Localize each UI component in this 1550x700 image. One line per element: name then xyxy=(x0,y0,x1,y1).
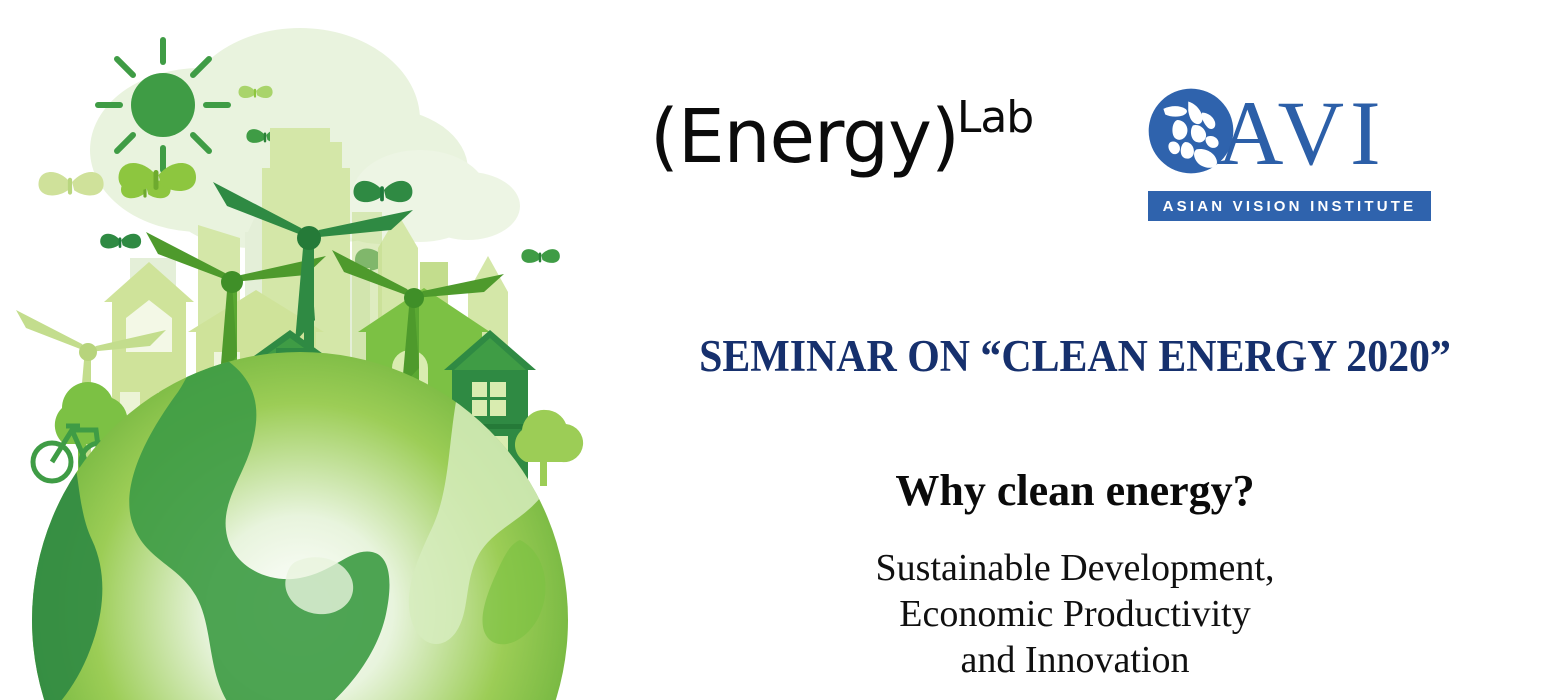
butterfly-icon xyxy=(521,249,559,263)
subtitle-block: Sustainable Development, Economic Produc… xyxy=(600,545,1550,683)
subtitle-line-3: and Innovation xyxy=(600,637,1550,683)
seminar-title: SEMINAR ON “CLEAN ENERGY 2020” xyxy=(633,330,1517,382)
sun-icon xyxy=(98,40,228,170)
logo-row: (Energy)Lab xyxy=(600,78,1550,248)
avi-logo-top: AVI xyxy=(1145,83,1445,195)
energylab-main-text: (Energy) xyxy=(650,94,959,180)
content-column: (Energy)Lab xyxy=(600,0,1550,700)
avi-logo: AVI ASIAN VISION INSTITUTE xyxy=(1145,83,1445,235)
butterfly-icon xyxy=(39,172,104,195)
subtitle-line-1: Sustainable Development, xyxy=(600,545,1550,591)
why-clean-energy-heading: Why clean energy? xyxy=(600,465,1550,517)
butterfly-icon xyxy=(100,234,141,249)
avi-tagline-bar: ASIAN VISION INSTITUTE xyxy=(1148,191,1431,221)
avi-tagline: ASIAN VISION INSTITUTE xyxy=(1163,198,1417,215)
green-city-globe-illustration xyxy=(0,0,600,700)
poster-root: (Energy)Lab xyxy=(0,0,1550,700)
energylab-superscript-text: Lab xyxy=(957,92,1033,143)
avi-letters: AVI xyxy=(1217,83,1387,183)
energylab-logo: (Energy)Lab xyxy=(650,100,1035,174)
subtitle-line-2: Economic Productivity xyxy=(600,591,1550,637)
